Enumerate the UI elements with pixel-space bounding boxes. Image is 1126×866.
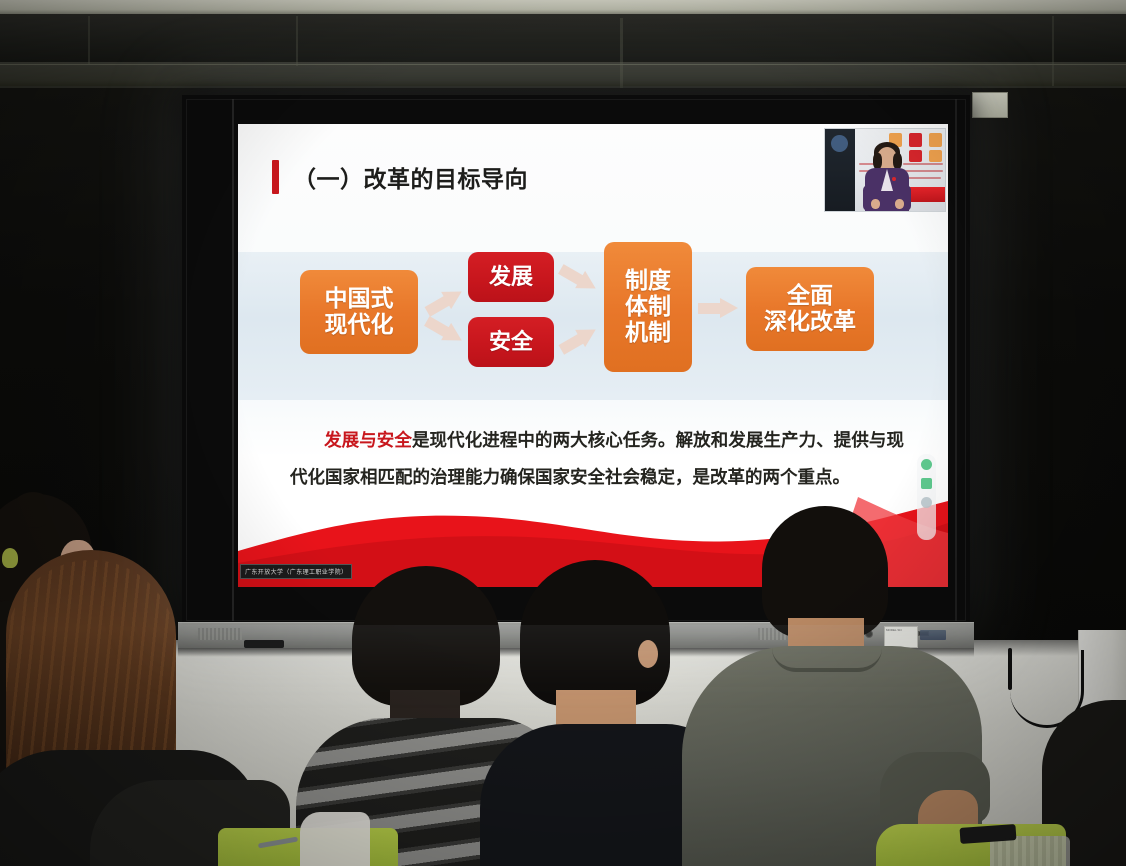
screen-seam xyxy=(955,99,957,621)
classroom-scene: （一）改革的目标导向 xyxy=(0,0,1126,866)
attendee-hair-bun xyxy=(12,492,54,528)
node-line: 安全 xyxy=(489,330,533,355)
video-text-line xyxy=(907,177,941,179)
duct-line xyxy=(1052,16,1054,86)
upper-wall-dark-band xyxy=(0,14,1126,66)
body-highlight: 发展与安全 xyxy=(324,430,412,450)
flow-diagram: 中国式 现代化 发展 安全 制度 体制 xyxy=(238,242,948,410)
desk-object-white xyxy=(300,812,370,866)
arrow-anquan-to-zhidu xyxy=(556,318,606,358)
title-accent-bar xyxy=(272,160,279,194)
diagram-node-quanmian: 全面 深化改革 xyxy=(746,267,874,351)
display-spec-label: MODEL SN xyxy=(884,626,918,648)
arrow-zhidu-to-quanmian xyxy=(698,298,744,318)
mid-wall-band xyxy=(0,62,1126,88)
node-line: 发展 xyxy=(489,265,533,290)
node-line: 制度 xyxy=(625,268,671,294)
record-icon[interactable] xyxy=(921,459,932,470)
wall-seam xyxy=(0,86,1126,88)
more-icon[interactable] xyxy=(921,497,932,508)
presenter-hair-side xyxy=(893,153,902,169)
diagram-node-china: 中国式 现代化 xyxy=(300,270,418,354)
power-cable xyxy=(1008,648,1012,690)
video-graphic-icon xyxy=(909,133,922,147)
node-line: 现代化 xyxy=(325,312,394,338)
duct-line xyxy=(620,18,623,88)
video-text-line xyxy=(905,170,943,172)
presenter-hand-left xyxy=(871,199,880,209)
wall-sign xyxy=(972,92,1008,118)
video-text-line xyxy=(903,163,943,165)
slide-title: （一）改革的目标导向 xyxy=(293,160,528,194)
display-brand-logo xyxy=(920,630,946,640)
attendee-hair xyxy=(520,560,670,706)
attendee-hair xyxy=(352,566,500,706)
screen-seam xyxy=(232,99,234,621)
slide-title-row: （一）改革的目标导向 xyxy=(272,160,528,194)
ceiling-seam xyxy=(0,64,1126,65)
node-line: 深化改革 xyxy=(764,309,856,335)
arrow-fazhan-to-zhidu xyxy=(556,260,606,300)
ir-receiver xyxy=(244,640,284,648)
diagram-node-anquan: 安全 xyxy=(468,317,554,367)
video-graphic-icon xyxy=(929,133,942,147)
presenter-lapel-pin xyxy=(892,177,896,181)
attendee-collar xyxy=(772,648,882,672)
video-logo-circle xyxy=(831,135,848,152)
arrow-china-to-anquan xyxy=(422,312,472,352)
bezel-speaker-grill xyxy=(198,628,242,640)
attendee-ear xyxy=(638,640,658,668)
presenter-hair-side xyxy=(873,153,882,169)
node-line: 机制 xyxy=(625,320,671,346)
node-line: 中国式 xyxy=(325,286,394,312)
presenter-hand-right xyxy=(895,199,904,209)
diagram-node-fazhan: 发展 xyxy=(468,252,554,302)
presenter-video-inset[interactable] xyxy=(824,128,946,212)
video-graphic-icon xyxy=(929,150,942,162)
duct-line xyxy=(296,16,298,66)
node-line: 体制 xyxy=(625,294,671,320)
diagram-node-zhidu: 制度 体制 机制 xyxy=(604,242,692,372)
video-graphic-icon xyxy=(909,150,922,162)
node-line: 全面 xyxy=(787,283,833,309)
duct-line xyxy=(88,16,90,64)
play-icon[interactable] xyxy=(921,478,932,489)
player-toolbar[interactable] xyxy=(917,454,936,540)
hair-clip xyxy=(2,548,18,568)
slide-watermark: 广东开放大学（广东理工职业学院） xyxy=(240,564,352,579)
